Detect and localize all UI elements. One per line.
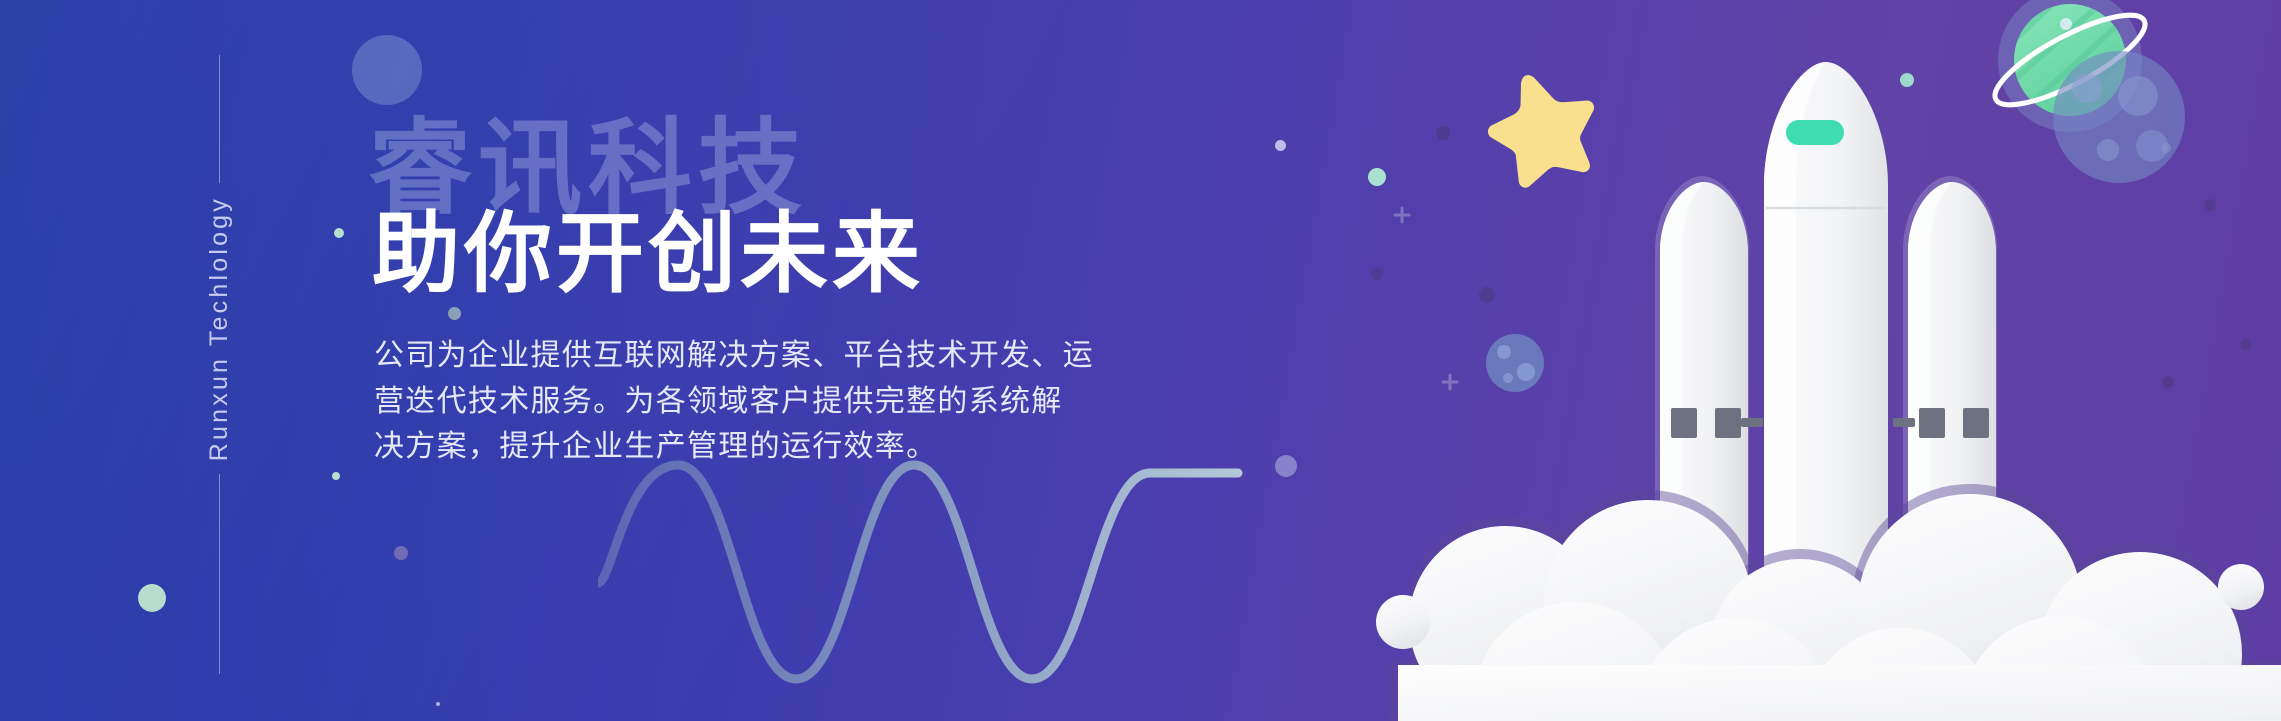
vertical-brand-strip: Runxun Techlology: [196, 55, 242, 675]
dot-large-blue-top-left: [352, 35, 422, 105]
dot-mint-pale-right: [1900, 73, 1914, 87]
dot-mint-upper-right: [1368, 168, 1386, 186]
hero-banner: Runxun Techlology 睿讯科技 助你开创未来 公司为企业提供互联网…: [0, 0, 2281, 721]
space-illustration: [1330, 0, 2281, 721]
dot-slate-mid-left: [448, 307, 461, 320]
cloud-puff-right: [2218, 564, 2264, 610]
dot-violet-bottom: [394, 546, 408, 560]
subcopy-line-3: 决方案，提升企业生产管理的运行效率。: [374, 424, 1164, 470]
dot-mint-small-left: [334, 228, 344, 238]
subcopy-line-2: 营迭代技术服务。为各领域客户提供完整的系统解: [374, 379, 1164, 425]
yellow-star: [1477, 61, 1609, 193]
brand-rule-bottom: [219, 474, 220, 674]
dot-lavender-mid: [1275, 455, 1297, 477]
dot-white-far-right: [2060, 18, 2072, 30]
vertical-brand-text: Runxun Techlology: [205, 196, 234, 461]
blue-moon-small: [1486, 334, 1544, 392]
dot-white-upper: [1275, 140, 1286, 151]
brand-rule-top: [219, 55, 220, 183]
dot-mint-bottom-small: [332, 472, 340, 480]
dot-tiny-bottom: [436, 702, 440, 706]
subcopy-paragraph: 公司为企业提供互联网解决方案、平台技术开发、运 营迭代技术服务。为各领域客户提供…: [374, 333, 1164, 470]
rocket-window: [1786, 120, 1844, 145]
sine-wave-decoration: [598, 455, 1258, 700]
dot-mint-large-bottom-left: [138, 584, 166, 612]
cloud-puff-left: [1376, 595, 1430, 649]
page-title: 助你开创未来: [372, 206, 924, 301]
blue-moon-large: [2053, 51, 2185, 183]
subcopy-line-1: 公司为企业提供互联网解决方案、平台技术开发、运: [374, 333, 1164, 379]
